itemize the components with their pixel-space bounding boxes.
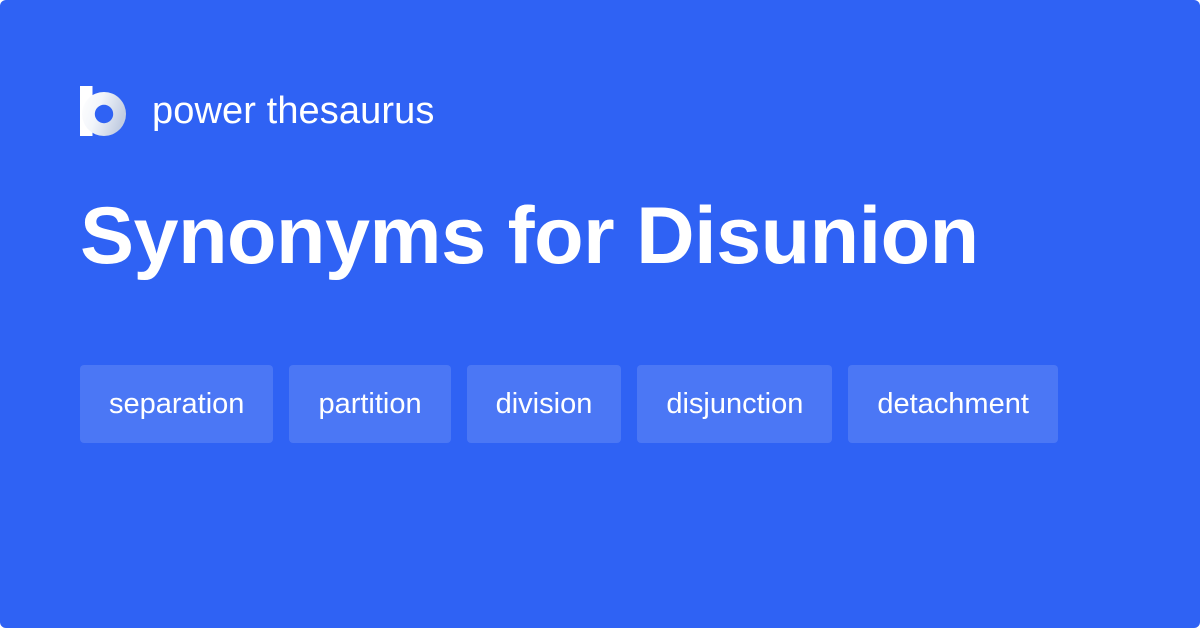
synonyms-card: power thesaurus Synonyms for Disunion se…	[0, 0, 1200, 628]
synonym-chip[interactable]: division	[467, 365, 622, 443]
power-thesaurus-b-logo-icon	[80, 86, 126, 136]
page-title: Synonyms for Disunion	[80, 196, 979, 277]
synonym-chip-list: separation partition division disjunctio…	[80, 365, 1100, 443]
synonym-chip[interactable]: detachment	[848, 365, 1058, 443]
brand-header[interactable]: power thesaurus	[80, 82, 434, 140]
synonym-chip[interactable]: partition	[289, 365, 450, 443]
brand-name: power thesaurus	[152, 92, 434, 130]
synonym-chip[interactable]: separation	[80, 365, 273, 443]
synonym-chip[interactable]: disjunction	[637, 365, 832, 443]
